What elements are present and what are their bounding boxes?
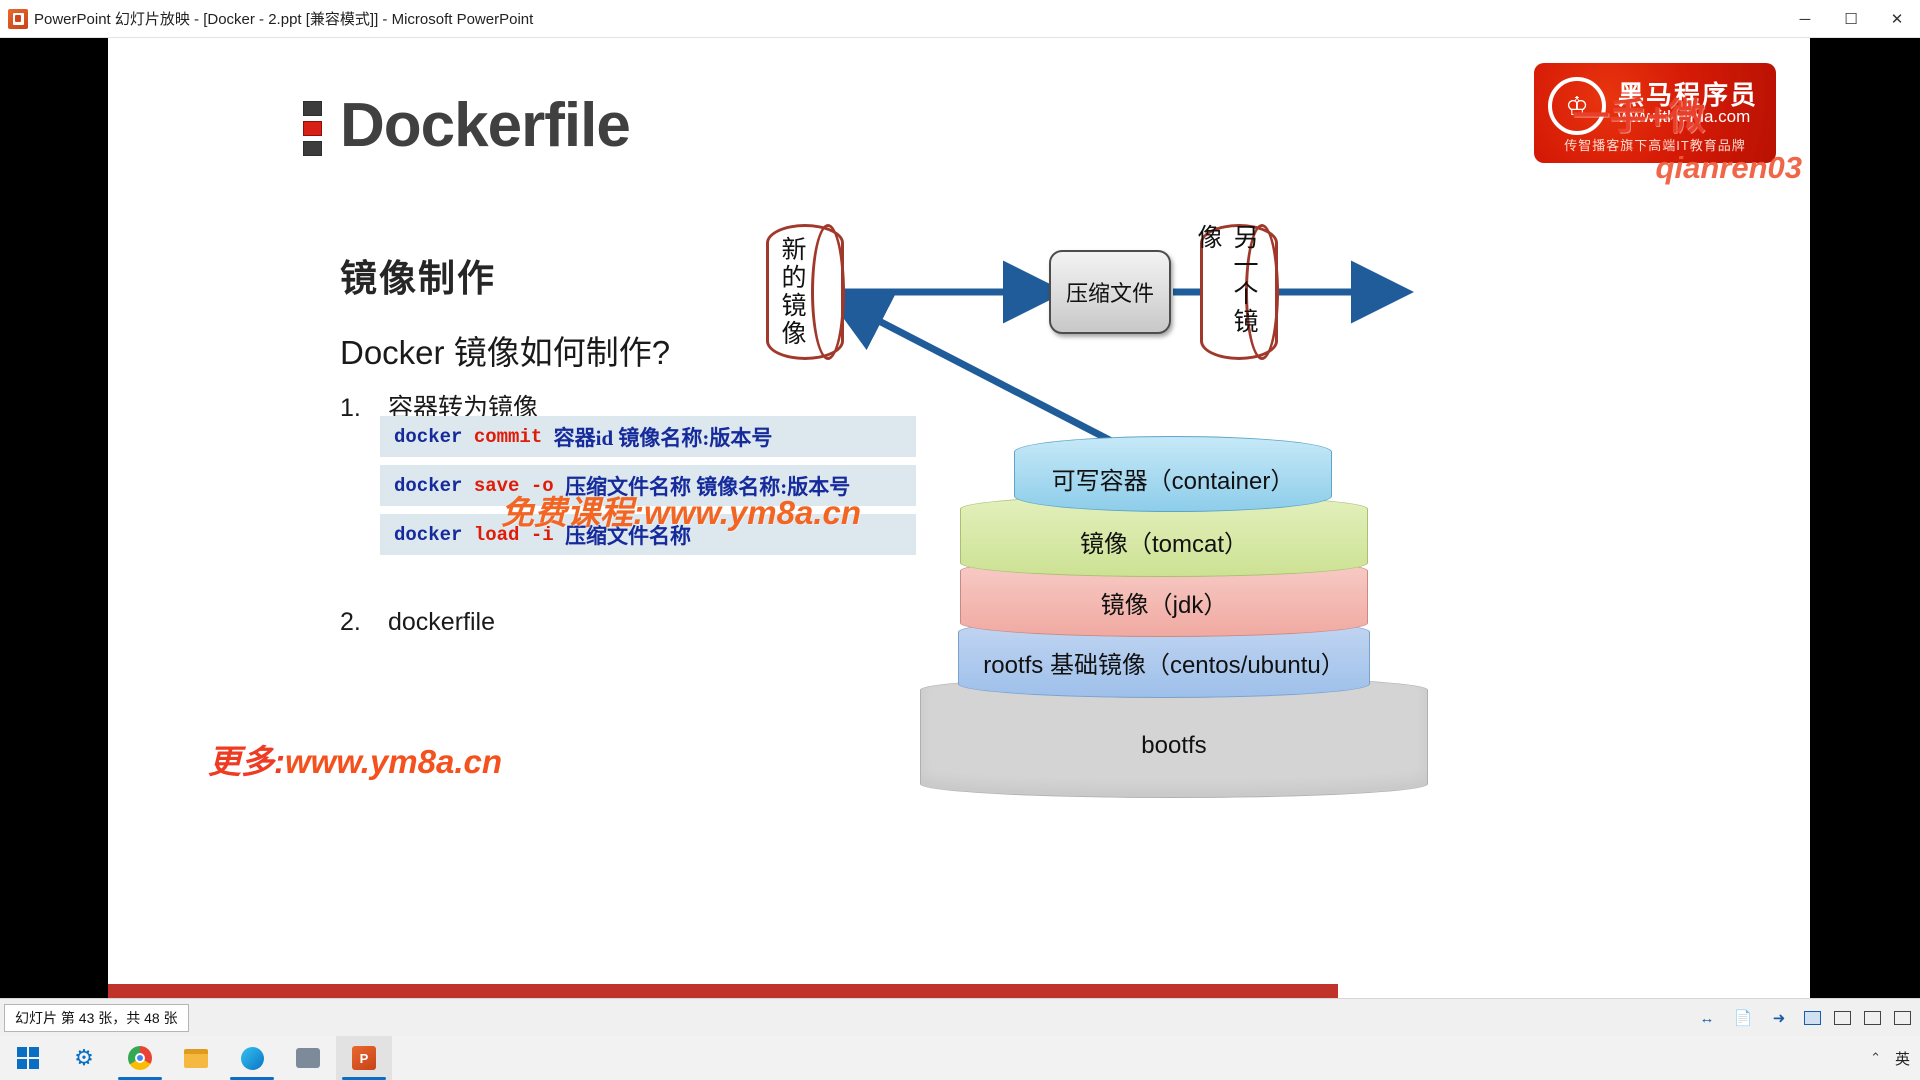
title-bullet-decoration xyxy=(303,101,322,161)
slide-canvas[interactable]: Dockerfile ♔ 黑马程序员 www.itheima.com 传智播客旗… xyxy=(108,38,1810,998)
minimize-button[interactable]: ─ xyxy=(1782,0,1828,38)
chrome-icon[interactable] xyxy=(112,1036,168,1080)
close-button[interactable]: ✕ xyxy=(1874,0,1920,38)
watermark-top: 一手+微 xyxy=(1572,86,1705,140)
section-heading: 镜像制作 xyxy=(340,248,496,302)
sorter-view-button[interactable] xyxy=(1830,1006,1854,1030)
list-number: 2. xyxy=(340,608,388,637)
list-item: 2.dockerfile xyxy=(340,608,495,637)
watermark-top-alt: qianren03 xyxy=(1656,150,1802,186)
system-tray: ⌃ 英 xyxy=(1870,1036,1910,1080)
normal-view-button[interactable] xyxy=(1800,1006,1824,1030)
code-args: 容器id 镜像名称:版本号 xyxy=(554,422,773,452)
status-bar: 幻灯片 第 43 张，共 48 张 ↔ 📄 ➜ xyxy=(0,998,1920,1036)
file-explorer-icon[interactable] xyxy=(168,1036,224,1080)
slide-bottom-band xyxy=(108,984,1338,998)
code-command: docker xyxy=(394,524,462,546)
slideshow-view-button[interactable] xyxy=(1890,1006,1914,1030)
chevron-up-icon[interactable]: ⌃ xyxy=(1870,1050,1881,1066)
reading-view-button[interactable] xyxy=(1860,1006,1884,1030)
tool-icon[interactable] xyxy=(280,1036,336,1080)
watermark-middle: 免费课程:www.ym8a.cn xyxy=(501,486,861,534)
powerpoint-icon[interactable]: P xyxy=(336,1036,392,1080)
code-subcommand: commit xyxy=(474,426,542,448)
stack-layer-jdk-label: 镜像（jdk） xyxy=(961,585,1367,620)
powerpoint-icon xyxy=(8,9,28,29)
window-title-text: PowerPoint 幻灯片放映 - [Docker - 2.ppt [兼容模式… xyxy=(34,8,533,29)
stack-layer-bootfs-label: bootfs xyxy=(921,732,1427,760)
code-command: docker xyxy=(394,475,462,497)
taskbar: ⚙ P ⌃ 英 xyxy=(0,1036,1920,1080)
edge-icon[interactable] xyxy=(224,1036,280,1080)
code-command: docker xyxy=(394,426,462,448)
cylinder-new-image: 新的镜像 xyxy=(766,224,844,360)
next-icon[interactable]: ↔ xyxy=(1692,1004,1722,1032)
window-title-bar: PowerPoint 幻灯片放映 - [Docker - 2.ppt [兼容模式… xyxy=(0,0,1920,38)
status-bar-right: ↔ 📄 ➜ xyxy=(1692,999,1914,1037)
diagram-arrows xyxy=(108,38,1810,998)
stack-layer-rootfs-label: rootfs 基础镜像（centos/ubuntu） xyxy=(959,645,1369,680)
stack-layer-tomcat-label: 镜像（tomcat） xyxy=(961,524,1367,559)
watermark-bottom-url: www.ym8a.cn xyxy=(285,743,502,780)
watermark-bottom-prefix: 更多: xyxy=(208,743,285,780)
ime-indicator[interactable]: 英 xyxy=(1895,1048,1910,1069)
pen-icon[interactable]: ➜ xyxy=(1764,1004,1794,1032)
question-text: Docker 镜像如何制作? xyxy=(340,326,670,374)
window-controls: ─ ☐ ✕ xyxy=(1782,0,1920,38)
note-icon[interactable]: 📄 xyxy=(1728,1004,1758,1032)
slide-count-label: 幻灯片 第 43 张，共 48 张 xyxy=(4,1004,189,1032)
cylinder-other-image-label: 另一个镜像 xyxy=(1200,224,1278,360)
list-label: dockerfile xyxy=(388,608,495,636)
cylinder-new-image-label: 新的镜像 xyxy=(766,224,844,360)
zip-file-label: 压缩文件 xyxy=(1066,276,1154,308)
page-title: Dockerfile xyxy=(340,90,630,161)
cylinder-other-image: 另一个镜像 xyxy=(1200,224,1278,360)
watermark-bottom: 更多:www.ym8a.cn xyxy=(208,735,502,783)
slideshow-stage[interactable]: Dockerfile ♔ 黑马程序员 www.itheima.com 传智播客旗… xyxy=(0,38,1920,998)
stack-layer-container: 可写容器（container） xyxy=(1014,436,1332,512)
zip-file-box: 压缩文件 xyxy=(1049,250,1171,334)
stack-layer-container-label: 可写容器（container） xyxy=(1015,461,1331,496)
maximize-button[interactable]: ☐ xyxy=(1828,0,1874,38)
start-button[interactable] xyxy=(0,1036,56,1080)
search-icon[interactable]: ⚙ xyxy=(56,1036,112,1080)
code-box: docker commit 容器id 镜像名称:版本号 xyxy=(380,416,916,457)
